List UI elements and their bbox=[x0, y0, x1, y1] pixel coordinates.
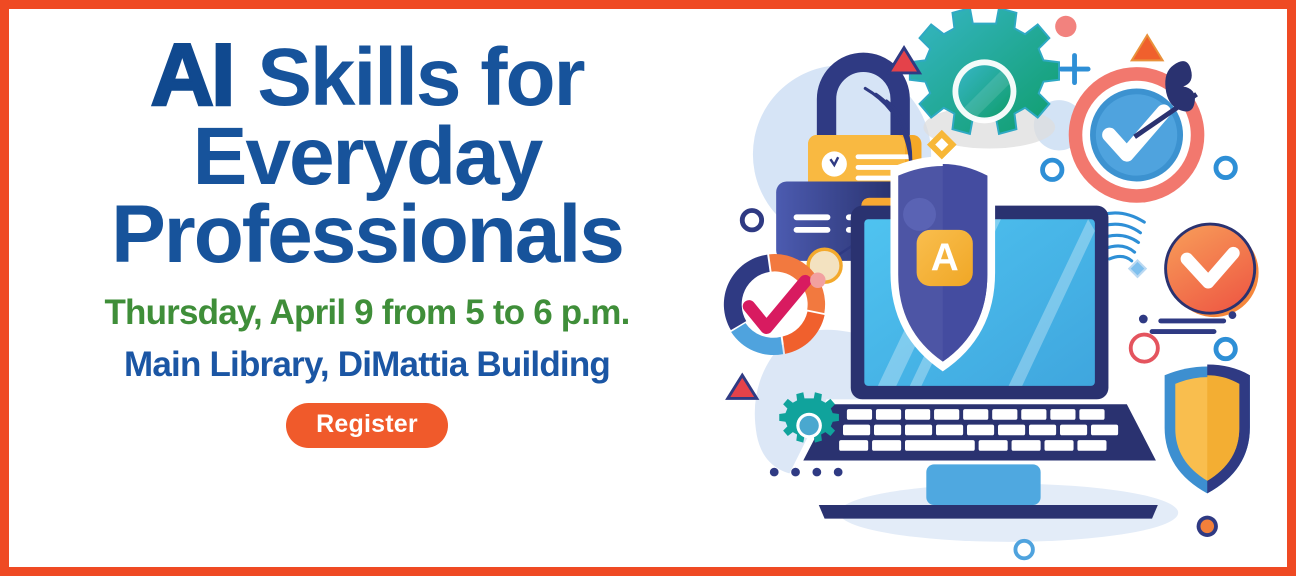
text-column: AI Skills for Everyday Professionals Thu… bbox=[9, 9, 725, 567]
headline-line1-rest: Skills for bbox=[236, 32, 583, 123]
shield-badge-letter: A bbox=[931, 237, 959, 280]
circle-outline-icon bbox=[1216, 158, 1235, 177]
register-button[interactable]: Register bbox=[286, 403, 448, 448]
headline-line2: Everyday bbox=[193, 111, 542, 202]
small-gear-icon bbox=[779, 392, 839, 442]
event-location: Main Library, DiMattia Building bbox=[124, 345, 610, 385]
circle-outline-icon bbox=[1131, 335, 1158, 362]
triangle-icon bbox=[889, 48, 920, 73]
circle-outline-icon bbox=[742, 211, 761, 230]
circle-outline-icon bbox=[1216, 339, 1235, 358]
event-banner: AI Skills for Everyday Professionals Thu… bbox=[0, 0, 1296, 576]
security-illustration: A bbox=[709, 9, 1287, 567]
triangle-icon bbox=[1132, 35, 1163, 60]
circle-outline-icon bbox=[1015, 541, 1032, 558]
check-badge-icon bbox=[1166, 224, 1259, 317]
target-arrow-icon bbox=[1069, 61, 1205, 203]
event-datetime: Thursday, April 9 from 5 to 6 p.m. bbox=[104, 293, 629, 333]
rule-lines-icon bbox=[1152, 321, 1224, 332]
plus-icon bbox=[1061, 56, 1088, 83]
page-title: AI Skills for Everyday Professionals bbox=[27, 33, 707, 275]
circle-outline-icon bbox=[1043, 160, 1062, 179]
headline-emphasis: AI bbox=[150, 25, 236, 124]
headline-line3: Professionals bbox=[111, 189, 623, 280]
triangle-icon bbox=[728, 375, 757, 398]
gear-icon bbox=[910, 9, 1059, 149]
